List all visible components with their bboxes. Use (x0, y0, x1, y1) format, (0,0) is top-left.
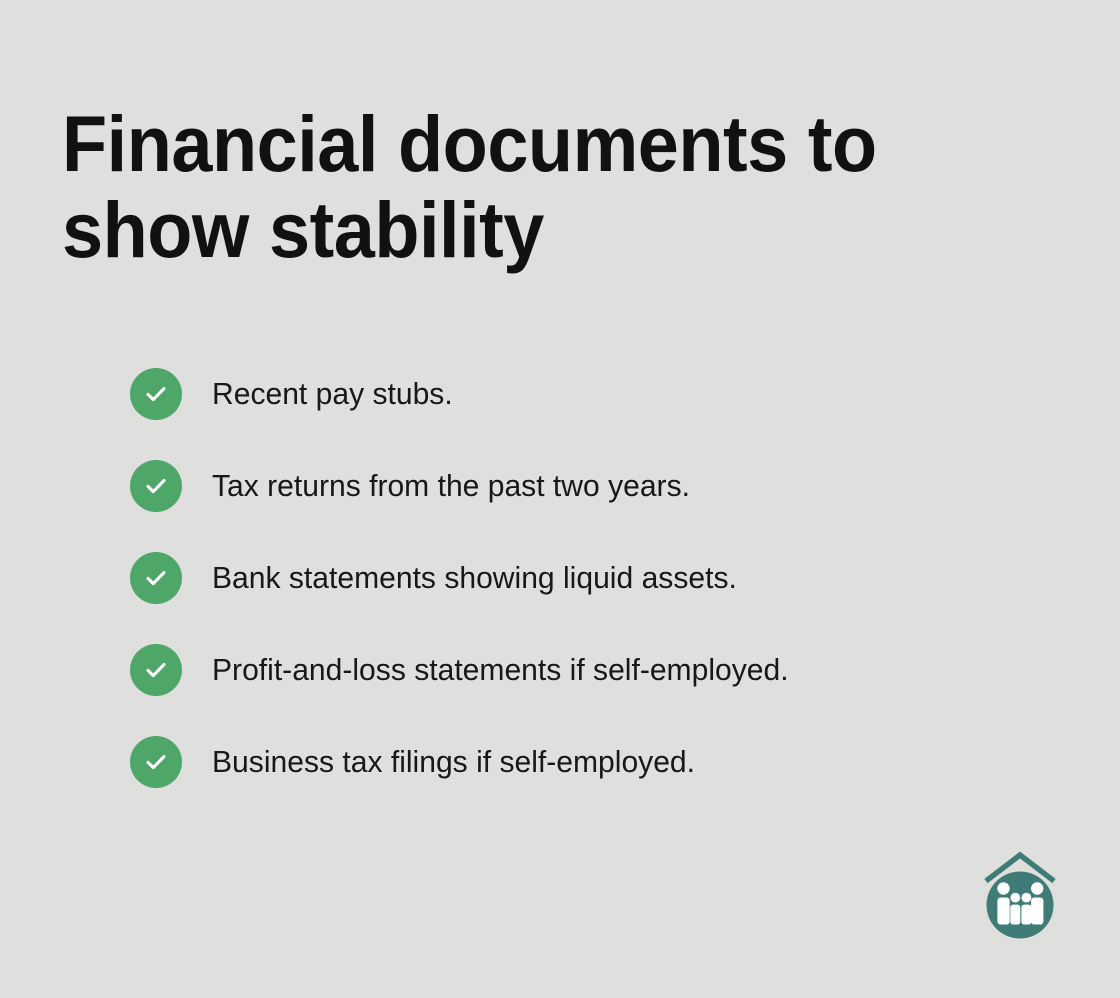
check-circle-icon (130, 368, 182, 420)
page-title: Financial documents to show stability (62, 101, 960, 273)
list-item-label: Profit-and-loss statements if self-emplo… (212, 653, 789, 687)
check-circle-icon (130, 644, 182, 696)
list-item: Profit-and-loss statements if self-emplo… (130, 644, 1030, 696)
slide-canvas: Financial documents to show stability Re… (0, 0, 1120, 998)
list-item: Bank statements showing liquid assets. (130, 552, 1030, 604)
check-circle-icon (130, 460, 182, 512)
list-item: Recent pay stubs. (130, 368, 1030, 420)
list-item-label: Tax returns from the past two years. (212, 469, 690, 503)
family-house-logo (978, 851, 1062, 943)
check-circle-icon (130, 736, 182, 788)
list-item: Tax returns from the past two years. (130, 460, 1030, 512)
checklist: Recent pay stubs. Tax returns from the p… (130, 368, 1030, 788)
list-item-label: Recent pay stubs. (212, 377, 453, 411)
check-circle-icon (130, 552, 182, 604)
title-block: Financial documents to show stability (62, 101, 1022, 273)
list-item-label: Business tax filings if self-employed. (212, 745, 695, 779)
list-item: Business tax filings if self-employed. (130, 736, 1030, 788)
list-item-label: Bank statements showing liquid assets. (212, 561, 737, 595)
